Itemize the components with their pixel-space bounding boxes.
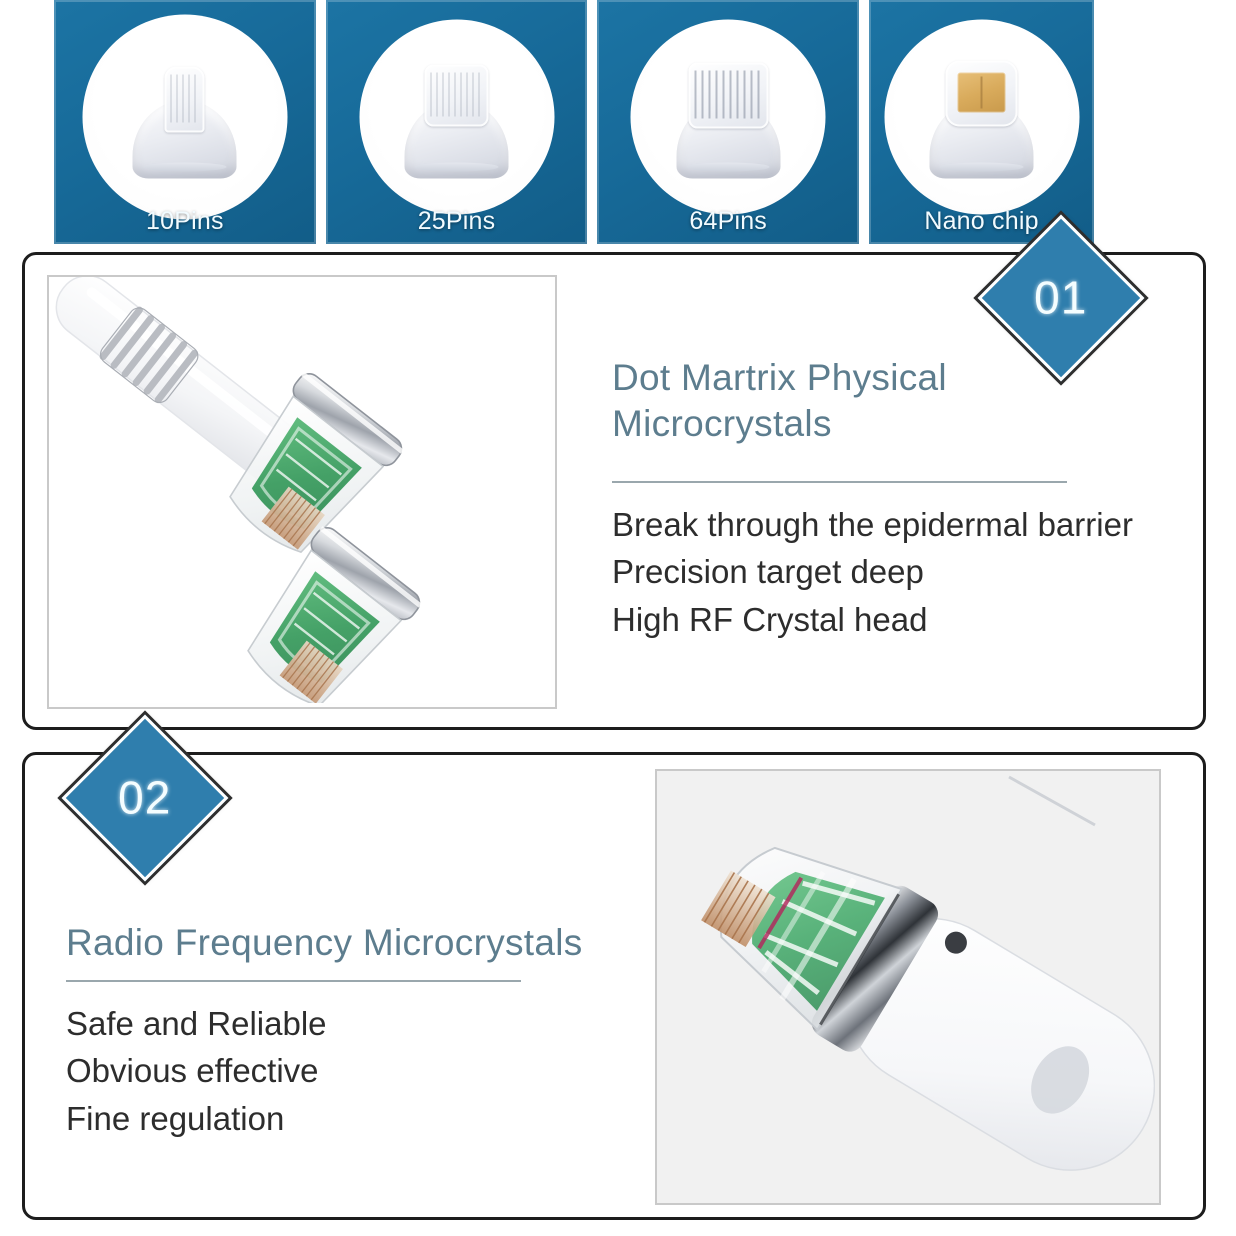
tip-card-10pins[interactable]: 10Pins: [54, 0, 316, 244]
section-01-bullet-list: Break through the epidermal barrier Prec…: [612, 501, 1182, 644]
section-01-title: Dot Martrix Physical Microcrystals: [612, 355, 1182, 447]
microneedle-cartridge-heads-photo: [47, 275, 557, 709]
tip-card-label: 10Pins: [54, 207, 316, 236]
cartridge-10pins-icon: [82, 15, 287, 220]
tip-card-nano-chip[interactable]: Nano chip: [869, 0, 1094, 244]
cartridge-64pins-icon: [631, 20, 826, 215]
rf-microcrystal-handpiece-tip-photo: [655, 769, 1161, 1205]
section-02-bullet-list: Safe and Reliable Obvious effective Fine…: [66, 1000, 646, 1143]
cartridge-nano-chip-icon: [884, 20, 1079, 215]
cartridge-25pins-icon: [359, 20, 554, 215]
section-02-text-block: Radio Frequency Microcrystals Safe and R…: [66, 920, 646, 1142]
section-01-title-line1: Dot Martrix Physical: [612, 357, 947, 398]
list-item: Obvious effective: [66, 1047, 646, 1095]
section-01-divider: [612, 481, 1067, 483]
section-02-divider: [66, 980, 521, 982]
tip-card-64pins[interactable]: 64Pins: [597, 0, 859, 244]
cartridge-tips-gallery: 10Pins 25Pins 64Pins Nano chip: [54, 0, 1094, 244]
tip-card-25pins[interactable]: 25Pins: [326, 0, 588, 244]
section-01-title-line2: Microcrystals: [612, 403, 832, 444]
list-item: Break through the epidermal barrier: [612, 501, 1182, 549]
section-02-number: 02: [118, 771, 171, 825]
list-item: Precision target deep: [612, 548, 1182, 596]
section-01-number: 01: [1034, 271, 1087, 325]
list-item: Safe and Reliable: [66, 1000, 646, 1048]
tip-card-label: 25Pins: [326, 207, 588, 236]
list-item: High RF Crystal head: [612, 596, 1182, 644]
section-01-text-block: Dot Martrix Physical Microcrystals Break…: [612, 355, 1182, 643]
section-02-title: Radio Frequency Microcrystals: [66, 920, 646, 966]
list-item: Fine regulation: [66, 1095, 646, 1143]
tip-card-label: 64Pins: [597, 207, 859, 236]
